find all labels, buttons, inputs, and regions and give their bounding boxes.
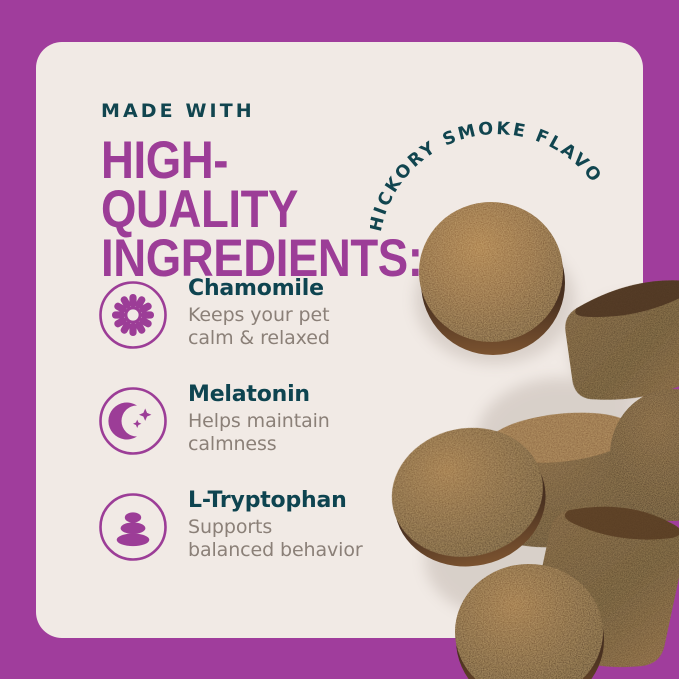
crescent-moon-stars-icon: [98, 386, 168, 456]
ingredient-name: Melatonin: [188, 382, 330, 407]
chamomile-flower-icon: [98, 280, 168, 350]
ingredient-name: Chamomile: [188, 276, 330, 301]
page-title: HIGH-QUALITY INGREDIENTS:: [101, 137, 385, 283]
stacked-stones-icon: [98, 492, 168, 562]
list-item: Chamomile Keeps your pet calm & relaxed: [98, 274, 438, 358]
ingredient-name: L-Tryptophan: [188, 488, 363, 513]
ingredient-desc-line-1: Keeps your pet: [188, 304, 330, 327]
ingredient-desc-line-2: balanced behavior: [188, 539, 363, 562]
ingredient-text: Melatonin Helps maintain calmness: [188, 380, 330, 457]
headline-line-1: HIGH-QUALITY: [101, 131, 298, 239]
ingredient-desc-line-2: calm & relaxed: [188, 327, 330, 350]
heading-block: MADE WITH HIGH-QUALITY INGREDIENTS:: [101, 102, 431, 283]
ingredient-text: Chamomile Keeps your pet calm & relaxed: [188, 274, 330, 351]
list-item: L-Tryptophan Supports balanced behavior: [98, 486, 438, 570]
eyebrow-text: MADE WITH: [101, 102, 431, 121]
ingredient-description: Supports balanced behavior: [188, 516, 363, 562]
product-infographic: MADE WITH HIGH-QUALITY INGREDIENTS:: [0, 0, 679, 679]
ingredient-text: L-Tryptophan Supports balanced behavior: [188, 486, 363, 563]
content-card: MADE WITH HIGH-QUALITY INGREDIENTS:: [36, 42, 643, 638]
ingredient-list: Chamomile Keeps your pet calm & relaxed: [98, 274, 438, 592]
ingredient-description: Keeps your pet calm & relaxed: [188, 304, 330, 350]
list-item: Melatonin Helps maintain calmness: [98, 380, 438, 464]
ingredient-desc-line-1: Supports: [188, 516, 363, 539]
ingredient-description: Helps maintain calmness: [188, 410, 330, 456]
ingredient-desc-line-2: calmness: [188, 433, 330, 456]
ingredient-desc-line-1: Helps maintain: [188, 410, 330, 433]
